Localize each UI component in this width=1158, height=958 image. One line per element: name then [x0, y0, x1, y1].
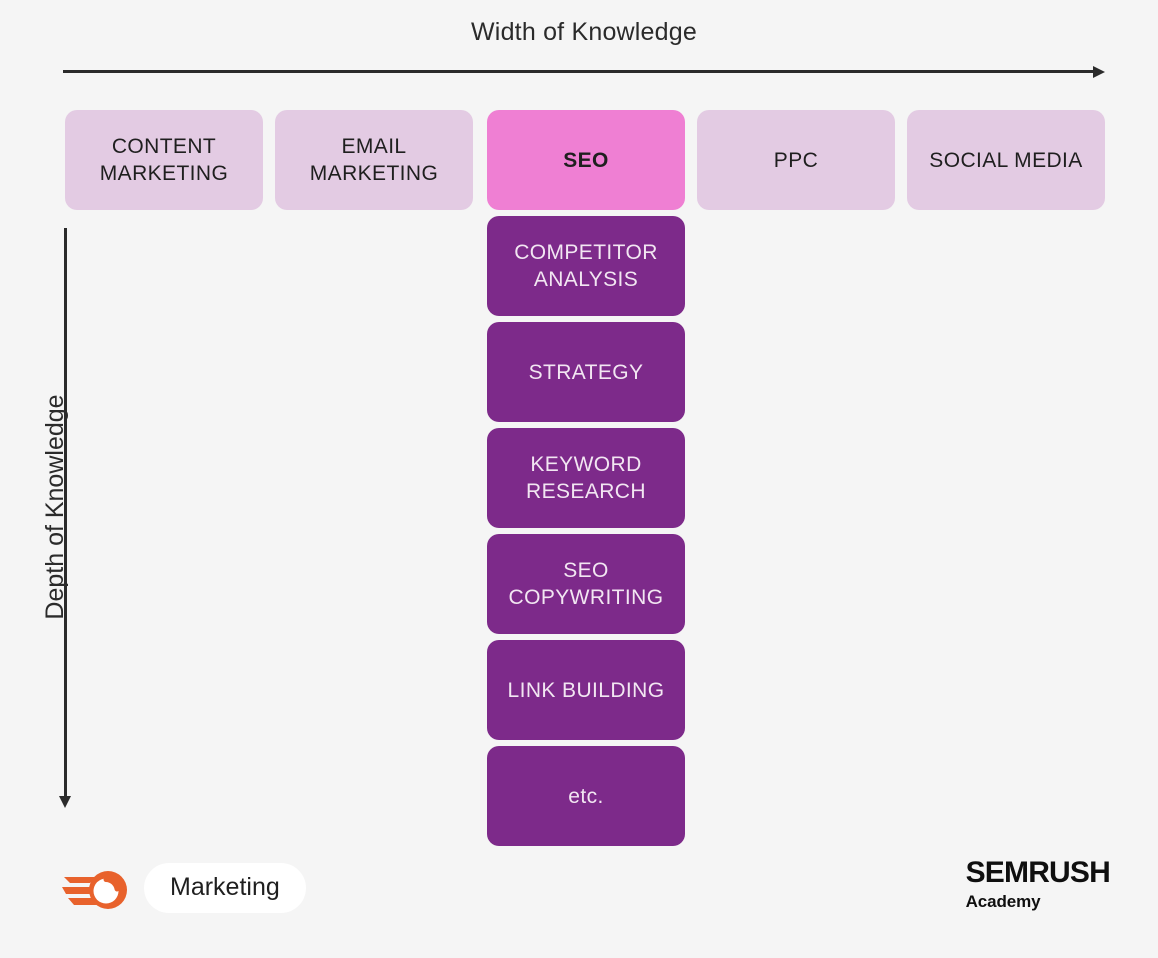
footer-brand-right: SEMRUSH Academy [966, 856, 1110, 913]
arrow-down-icon [59, 796, 71, 808]
semrush-comet-icon [62, 863, 136, 913]
diagram-canvas: Width of Knowledge Depth of Knowledge CO… [0, 0, 1158, 958]
footer-brand-left: Marketing [62, 860, 306, 916]
channel-box-social-media[interactable]: SOCIAL MEDIA [907, 110, 1105, 210]
skill-box-etc[interactable]: etc. [487, 746, 685, 846]
skill-box-seo-copywriting[interactable]: SEO COPYWRITING [487, 534, 685, 634]
channel-box-email-marketing[interactable]: EMAIL MARKETING [275, 110, 473, 210]
arrow-right-icon [1093, 66, 1105, 78]
width-axis-line [63, 70, 1094, 73]
channel-box-ppc[interactable]: PPC [697, 110, 895, 210]
channel-box-seo[interactable]: SEO [487, 110, 685, 210]
seo-skill-stack: COMPETITOR ANALYSIS STRATEGY KEYWORD RES… [487, 216, 685, 852]
channel-box-content-marketing[interactable]: CONTENT MARKETING [65, 110, 263, 210]
width-axis-arrow [63, 66, 1105, 78]
skill-box-keyword-research[interactable]: KEYWORD RESEARCH [487, 428, 685, 528]
skill-box-link-building[interactable]: LINK BUILDING [487, 640, 685, 740]
skill-box-competitor-analysis[interactable]: COMPETITOR ANALYSIS [487, 216, 685, 316]
semrush-wordmark: SEMRUSH [966, 856, 1110, 890]
width-of-knowledge-label: Width of Knowledge [63, 16, 1105, 48]
marketing-pill-label: Marketing [144, 863, 306, 913]
depth-of-knowledge-label: Depth of Knowledge [40, 267, 70, 747]
channel-row: CONTENT MARKETING EMAIL MARKETING SEO PP… [65, 110, 1105, 210]
academy-wordmark: Academy [966, 891, 1110, 913]
skill-box-strategy[interactable]: STRATEGY [487, 322, 685, 422]
